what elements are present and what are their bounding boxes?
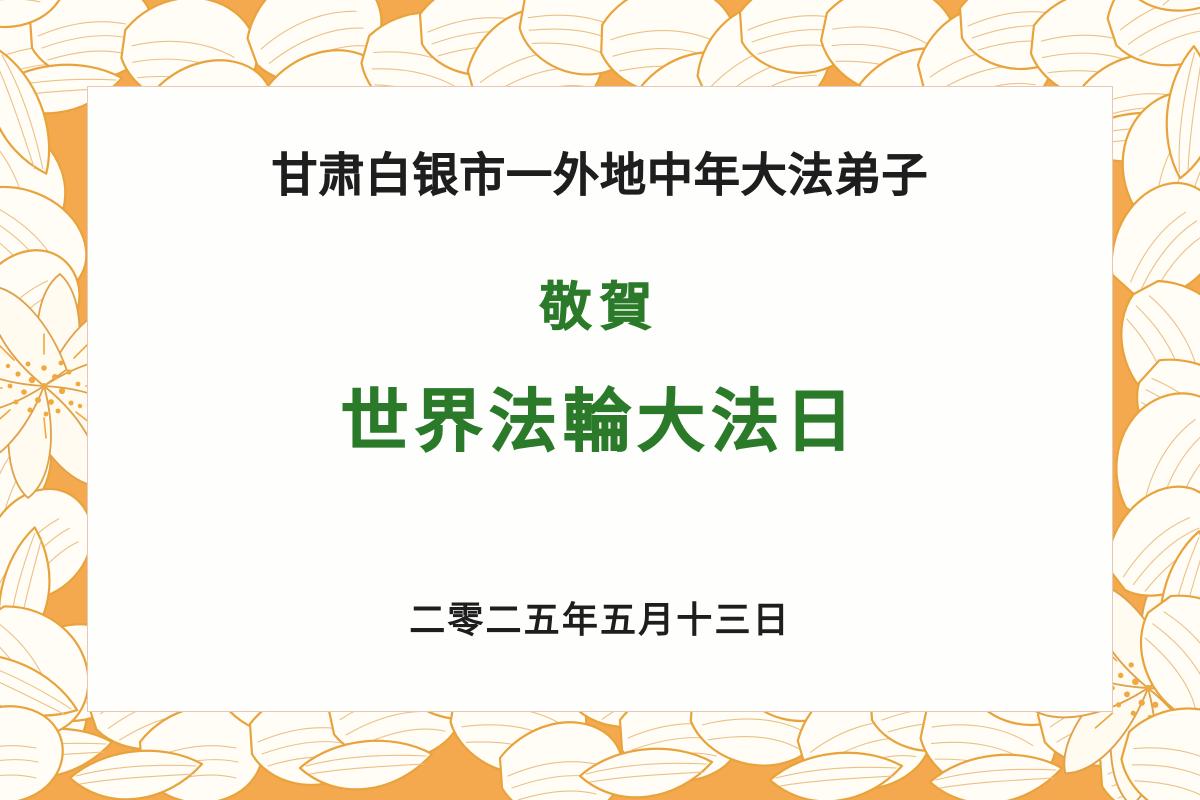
greeting-card: .pf { fill:#FFFDF6; stroke:#E8A33C; stro… <box>0 0 1200 800</box>
occasion-title: 世界法輪大法日 <box>88 366 1112 465</box>
date-line: 二零二五年五月十三日 <box>88 591 1112 643</box>
salutation-line: 敬賀 <box>88 265 1112 340</box>
greeting-sender-line: 甘肃白银市一外地中年大法弟子 <box>88 139 1112 205</box>
card-inner-panel: 甘肃白银市一外地中年大法弟子 敬賀 世界法輪大法日 二零二五年五月十三日 <box>87 86 1113 712</box>
